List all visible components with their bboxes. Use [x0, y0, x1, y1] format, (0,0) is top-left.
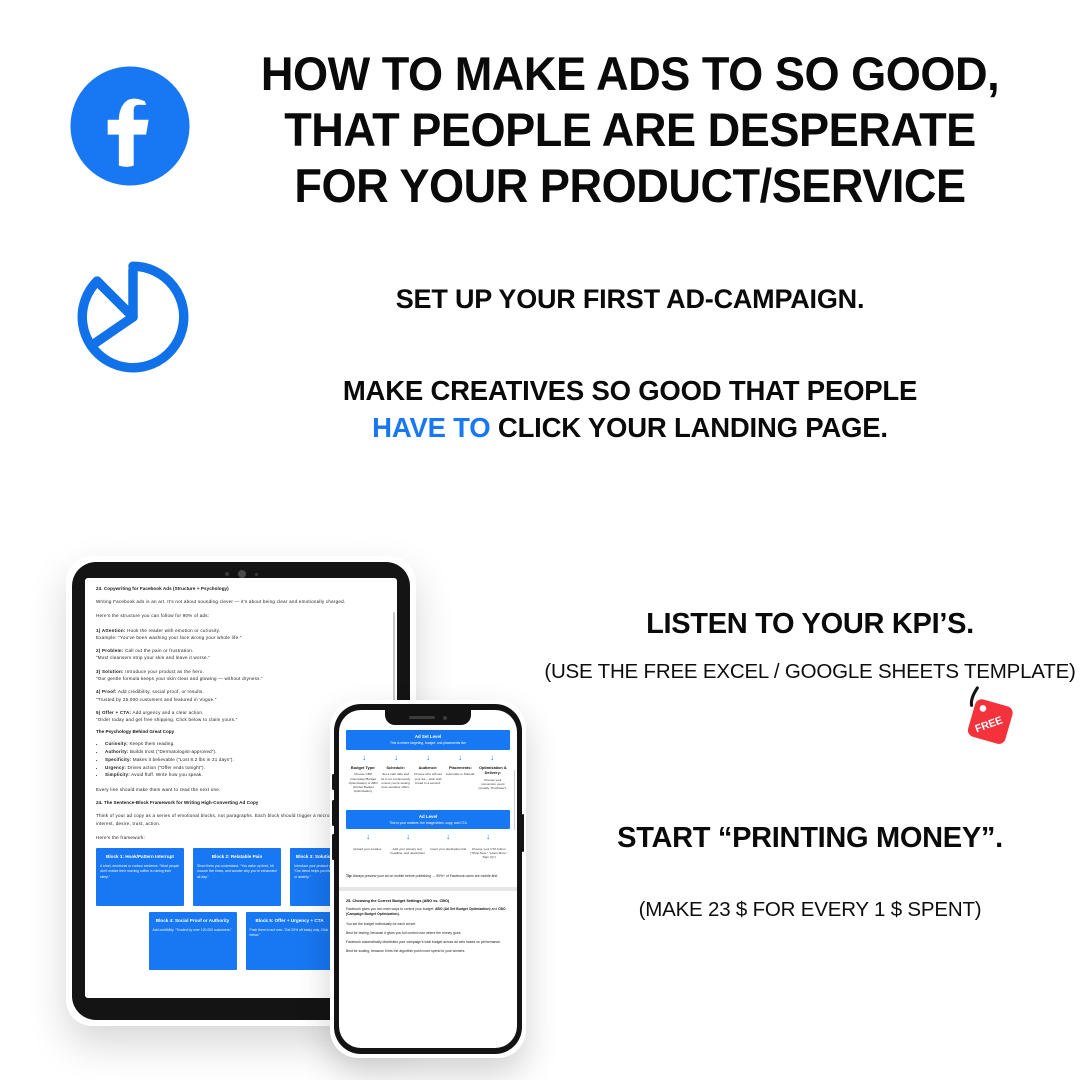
ad-column-desc: Upload your creative	[348, 847, 387, 851]
doc-step-text: Introduce your product as the hero.	[124, 669, 204, 674]
phone-cbo-line-1: Facebook automatically distributes your …	[346, 940, 510, 945]
headline-line-1: HOW TO MAKE ADS TO SO GOOD,	[229, 46, 1032, 102]
framework-block-title: Block 4: Social Proof or Authority	[153, 917, 233, 924]
adset-column-desc: Set a start date and let it run continuo…	[380, 772, 410, 789]
arrow-down-icon: ↓	[446, 833, 450, 841]
doc-step: 2) Problem: Call out the pain or frustra…	[96, 647, 386, 662]
headline-line-2: THAT PEOPLE ARE DESPERATE	[229, 102, 1032, 158]
adset-banner-subtitle: This is where targeting, budget, and pla…	[349, 741, 507, 745]
ad-column: Add your primary text, headline, and des…	[389, 844, 428, 859]
doc-step-label: 1) Attention:	[96, 628, 126, 633]
free-tag-icon: FREE	[958, 684, 1020, 748]
arrow-down-icon: ↓	[426, 754, 430, 762]
framework-block: Block 4: Social Proof or Authority Add c…	[149, 912, 237, 970]
promo-canvas: HOW TO MAKE ADS TO SO GOOD, THAT PEOPLE …	[0, 0, 1080, 1080]
doc-structure-lead: Here’s the structure you can follow for …	[96, 612, 386, 619]
adset-diagram: Ad Set Level This is where targeting, bu…	[339, 710, 517, 860]
ad-column: Upload your creative	[348, 844, 387, 859]
ad-column: Insert your destination link	[429, 844, 468, 859]
doc-step-text: Add urgency and a clear action.	[131, 710, 203, 715]
arrow-down-icon: ↓	[486, 833, 490, 841]
adset-column-title: Placements:	[445, 765, 475, 770]
adset-column-desc: Choose CBO (Campaign Budget Optimization…	[348, 772, 378, 793]
phone-body-text: Tip: Always preview your ad on mobile be…	[339, 874, 517, 955]
framework-block-body: A short, emotional or curious sentence. …	[100, 864, 180, 879]
adset-column-title: Audience:	[413, 765, 443, 770]
adset-column-title: Optimisation & Delivery:	[478, 765, 508, 776]
step-1-heading: SET UP YOUR FIRST AD-CAMPAIGN.	[300, 284, 960, 315]
ad-column-desc: Add your primary text, headline, and des…	[389, 847, 428, 856]
doc-step: 4) Proof: Add credibility, social proof,…	[96, 688, 386, 703]
framework-block-body: Push them to act now. “Get 20% off today…	[250, 928, 330, 938]
pie-chart-icon	[72, 258, 194, 376]
phone-budget-intro: Facebook gives you two main ways to cont…	[346, 907, 510, 918]
framework-block-title: Block 1: Hook/Pattern Interrupt	[100, 853, 180, 860]
phone-tip: Tip: Always preview your ad on mobile be…	[346, 874, 510, 879]
phone-device: Ad Set Level This is where targeting, bu…	[334, 704, 522, 1054]
doc-step-label: 3) Solution:	[96, 669, 124, 674]
arrow-down-icon: ↓	[406, 833, 410, 841]
doc-step-text: Hook the reader with emotion or curiosit…	[126, 628, 221, 633]
arrow-down-icon: ↓	[366, 833, 370, 841]
doc-step-example: Example: “You’ve been washing your face …	[96, 635, 242, 640]
adset-column-desc: Automatic or Manual.	[445, 772, 475, 776]
adset-column: Placements: Automatic or Manual.	[445, 765, 475, 794]
phone-tip-text: Always preview your ad on mobile before …	[353, 874, 498, 878]
step-2-heading: MAKE CREATIVES SO GOOD THAT PEOPLE HAVE …	[290, 372, 970, 447]
adset-column-title: Schedule:	[380, 765, 410, 770]
phone-scrollbar[interactable]	[514, 770, 515, 830]
phone-notch	[385, 710, 471, 725]
arrow-down-icon: ↓	[394, 754, 398, 762]
ad-banner-title: Ad Level	[349, 814, 507, 820]
doc-step: 3) Solution: Introduce your product as t…	[96, 668, 386, 683]
adset-column: Audience: Choose who will see your ad— s…	[413, 765, 443, 794]
doc-step-text: Add credibility, social proof, or result…	[117, 689, 204, 694]
ad-arrow-row: ↓ ↓ ↓ ↓	[348, 833, 508, 841]
phone-screen[interactable]: Ad Set Level This is where targeting, bu…	[339, 710, 517, 1048]
doc-step-text: Call out the pain or frustration.	[124, 648, 194, 653]
step-2-line-1: MAKE CREATIVES SO GOOD THAT PEOPLE	[343, 375, 917, 406]
adset-banner-title: Ad Set Level	[349, 734, 507, 740]
phone-volume-up-button[interactable]	[332, 800, 335, 826]
page-headline: HOW TO MAKE ADS TO SO GOOD, THAT PEOPLE …	[229, 46, 1032, 214]
arrow-down-icon: ↓	[458, 754, 462, 762]
doc-step-label: 4) Proof:	[96, 689, 117, 694]
adset-column: Budget Type: Choose CBO (Campaign Budget…	[348, 765, 378, 794]
phone-volume-down-button[interactable]	[332, 834, 335, 860]
phone-power-button[interactable]	[522, 814, 525, 852]
doc-intro: Writing Facebook ads is an art. It’s not…	[96, 598, 386, 605]
arrow-down-icon: ↓	[490, 754, 494, 762]
framework-block-body: Add credibility. “Trusted by over 120,00…	[153, 928, 233, 933]
phone-abo-line-1: You set the budget individually for each…	[346, 922, 510, 927]
ad-banner-subtitle: This is your creative: the image/video, …	[349, 821, 507, 825]
ad-columns: Upload your creative Add your primary te…	[346, 844, 510, 859]
framework-block: Block 5: Offer + Urgency + CTA Push them…	[246, 912, 334, 970]
phone-front-camera	[443, 716, 447, 720]
adset-level-banner: Ad Set Level This is where targeting, bu…	[346, 730, 510, 750]
phone-speaker	[409, 716, 435, 719]
ad-level-banner: Ad Level This is your creative: the imag…	[346, 810, 510, 830]
phone-mute-switch[interactable]	[332, 774, 335, 790]
phone-budget-title: 25. Choosing the Correct Budget Settings…	[346, 899, 510, 903]
page-separator	[339, 887, 517, 891]
doc-step-example: “Order today and get free shipping. Clic…	[96, 717, 238, 722]
doc-step-label: 2) Problem:	[96, 648, 124, 653]
phone-tip-label: Tip:	[346, 874, 352, 878]
arrow-down-icon: ↓	[362, 754, 366, 762]
step-4-subtext: (MAKE 23 $ FOR EVERY 1 $ SPENT)	[590, 898, 1030, 922]
facebook-logo	[68, 64, 192, 188]
step-4-heading: START “PRINTING MONEY”.	[590, 822, 1030, 855]
doc-section-title: 23. Copywriting for Facebook Ads (Struct…	[96, 586, 386, 591]
headline-line-3: FOR YOUR PRODUCT/SERVICE	[229, 158, 1032, 214]
step-3-heading: LISTEN TO YOUR KPI’S.	[600, 608, 1020, 641]
adset-column-title: Budget Type:	[348, 765, 378, 770]
step-3-subtext: (USE THE FREE EXCEL / GOOGLE SHEETS TEMP…	[540, 660, 1080, 684]
framework-block-title: Block 5: Offer + Urgency + CTA	[250, 917, 330, 924]
step-2-accent: HAVE TO	[372, 412, 490, 443]
ad-column-desc: Choose your CTA button (“Shop Now,” “Lea…	[470, 847, 509, 860]
phone-cbo-line-2: Best for scaling, because it lets the al…	[346, 949, 510, 954]
framework-block: Block 2: Relatable Pain Show them you un…	[193, 848, 281, 906]
doc-step: 1) Attention: Hook the reader with emoti…	[96, 627, 386, 642]
phone-abo-line-2: Best for testing, because it gives you f…	[346, 931, 510, 936]
adset-column: Schedule: Set a start date and let it ru…	[380, 765, 410, 794]
adset-column-desc: Choose who will see your ad— stick with …	[413, 772, 443, 785]
adset-column-desc: Choose your conversion event (usually “P…	[478, 778, 508, 791]
adset-arrow-row: ↓ ↓ ↓ ↓ ↓	[348, 754, 508, 762]
doc-step-example: “Trusted by 25,000 customers and feature…	[96, 697, 217, 702]
adset-column: Optimisation & Delivery: Choose your con…	[478, 765, 508, 794]
ad-column-desc: Insert your destination link	[429, 847, 468, 851]
step-2-rest: CLICK YOUR LANDING PAGE.	[490, 412, 887, 443]
doc-step-example: “Most cleansers strip your skin and leav…	[96, 655, 210, 660]
doc-step-label: 5) Offer + CTA:	[96, 710, 131, 715]
ad-column: Choose your CTA button (“Shop Now,” “Lea…	[470, 844, 509, 859]
framework-block: Block 1: Hook/Pattern Interrupt A short,…	[96, 848, 184, 906]
doc-step-example: “Our gentle formula keeps your skin clea…	[96, 676, 263, 681]
adset-columns: Budget Type: Choose CBO (Campaign Budget…	[346, 765, 510, 794]
framework-block-title: Block 2: Relatable Pain	[197, 853, 277, 860]
framework-block-body: Show them you understand. “You wake up t…	[197, 864, 277, 879]
